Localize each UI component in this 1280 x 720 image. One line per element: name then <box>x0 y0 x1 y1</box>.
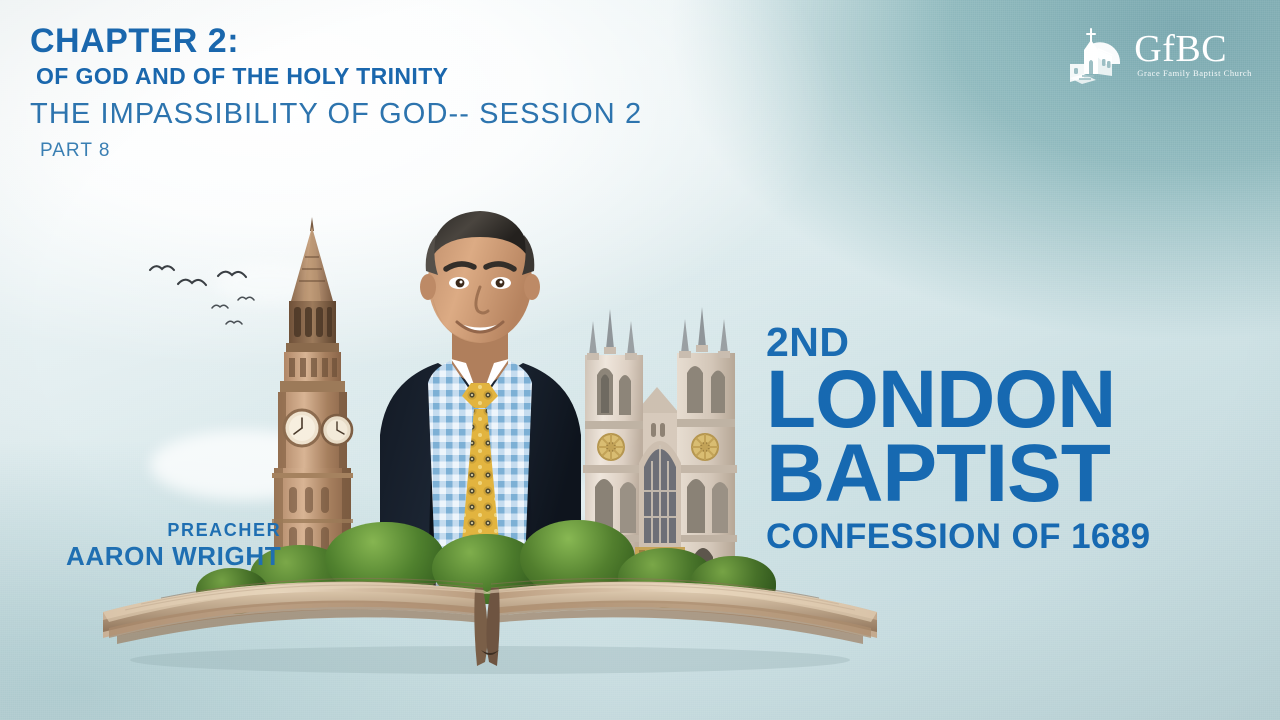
title-line-confession: CONFESSION OF 1689 <box>766 519 1151 554</box>
main-title-block: 2ND LONDON BAPTIST CONFESSION OF 1689 <box>766 322 1151 554</box>
preacher-block: PREACHER AARON WRIGHT <box>66 521 281 570</box>
preacher-name: AARON WRIGHT <box>66 543 281 570</box>
preacher-label: PREACHER <box>66 521 281 540</box>
logo-text-group: GfBC Grace Family Baptist Church <box>1134 32 1252 79</box>
title-block: CHAPTER 2: OF GOD AND OF THE HOLY TRINIT… <box>30 24 642 160</box>
logo-tagline: Grace Family Baptist Church <box>1137 68 1252 78</box>
church-logo: GfBC Grace Family Baptist Church <box>1062 26 1252 84</box>
church-building-icon <box>1062 26 1124 84</box>
title-line-london: LONDON <box>766 363 1151 437</box>
sermon-title-slide: CHAPTER 2: OF GOD AND OF THE HOLY TRINIT… <box>0 0 1280 720</box>
logo-wordmark: GfBC <box>1134 32 1252 67</box>
chapter-subtitle: OF GOD AND OF THE HOLY TRINITY <box>36 65 642 88</box>
part-line: PART 8 <box>40 141 642 160</box>
title-line-baptist: BAPTIST <box>766 437 1151 511</box>
session-line: THE IMPASSIBILITY OF GOD-- SESSION 2 <box>30 100 642 129</box>
chapter-heading: CHAPTER 2: <box>30 24 642 58</box>
